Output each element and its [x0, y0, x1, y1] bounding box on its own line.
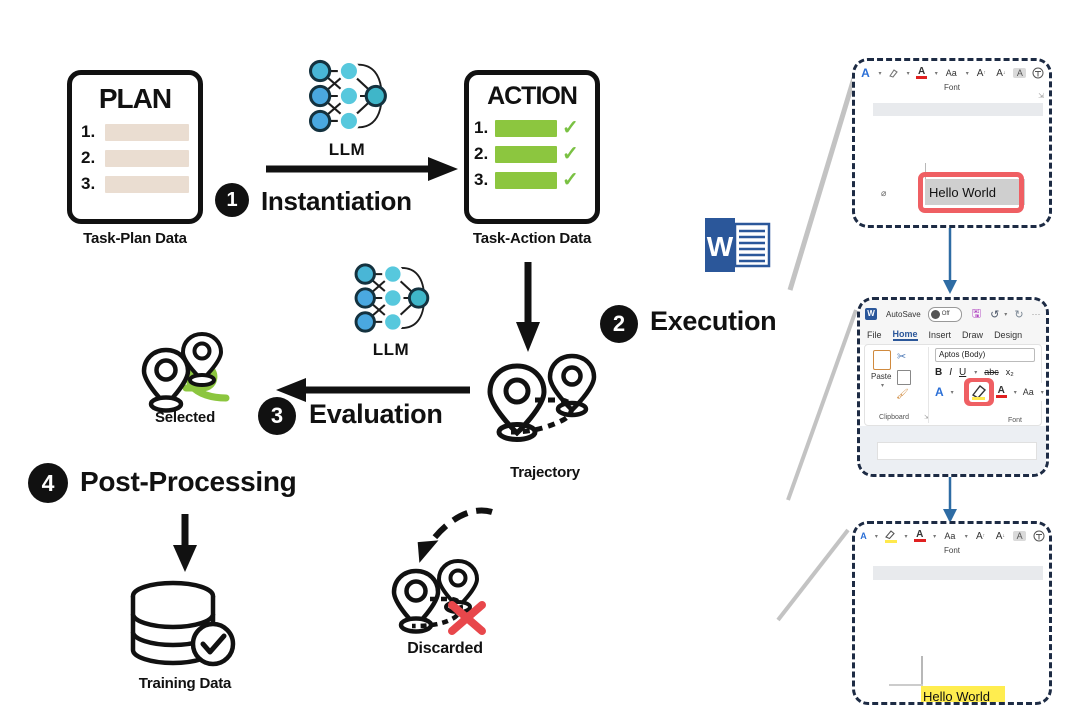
microsoft-word-icon: W — [703, 212, 773, 278]
plan-row-number: 3. — [81, 174, 105, 194]
font-group[interactable]: Aptos (Body) B I U ▾ abc x₂ A ▾ ▾ A — [933, 347, 1039, 423]
action-row-bar — [495, 120, 557, 137]
autosave-label: AutoSave — [886, 310, 921, 319]
action-row: 1. ✓ — [474, 118, 590, 138]
font-format-row[interactable]: B I U ▾ abc x₂ — [935, 365, 1014, 379]
clear-formatting-icon[interactable]: A — [1013, 531, 1026, 541]
change-case-icon[interactable]: Aa — [1023, 387, 1034, 397]
selected-caption: Selected — [115, 409, 255, 426]
paste-label[interactable]: Paste — [871, 372, 891, 381]
ribbon-body[interactable]: ✂ Paste ▾ 🖌 Clipboard ⇲ Aptos (Body) B I… — [864, 344, 1042, 426]
cut-icon[interactable]: ✂ — [897, 350, 906, 363]
plan-row: 2. — [81, 148, 189, 168]
subscript-button[interactable]: x₂ — [1006, 367, 1014, 377]
phonetic-guide-icon[interactable] — [1032, 530, 1045, 542]
discarded-caption: Discarded — [375, 640, 515, 658]
plan-card-title: PLAN — [99, 83, 171, 115]
chevron-down-icon[interactable]: ▾ — [966, 70, 969, 77]
chevron-down-icon[interactable]: ▾ — [907, 70, 910, 77]
plan-row: 3. — [81, 174, 189, 194]
llm-label: LLM — [373, 340, 409, 360]
chevron-down-icon[interactable]: ▾ — [875, 533, 878, 540]
action-row-bar — [495, 146, 557, 163]
step-badge-2: 2 — [600, 305, 638, 343]
llm-icon-instantiation: LLM — [287, 48, 407, 160]
step-badge-1: 1 — [215, 183, 249, 217]
task-plan-card: PLAN 1. 2. 3. — [67, 70, 203, 224]
neural-network-icon — [345, 252, 437, 344]
quick-access-toolbar[interactable]: W AutoSave Off 🖫 ↺ ▾ ↻ ⋯ — [860, 300, 1046, 325]
task-action-caption: Task-Action Data — [444, 230, 620, 247]
chevron-down-icon[interactable]: ▾ — [1014, 389, 1017, 396]
discarded-icon — [390, 555, 500, 640]
phonetic-guide-icon[interactable] — [1032, 67, 1045, 79]
grow-font-icon[interactable]: A↑ — [974, 68, 988, 79]
action-row-number: 3. — [474, 170, 495, 190]
chevron-down-icon[interactable]: ▾ — [935, 70, 938, 77]
font-group-toolbar[interactable]: A ▾ ▾ A ▾ Aa ▾ A↑ A↓ A — [855, 61, 1049, 83]
task-plan-caption: Task-Plan Data — [47, 230, 223, 247]
strikethrough-button[interactable]: abc — [984, 367, 999, 377]
plan-row-number: 1. — [81, 122, 105, 142]
plan-row: 1. — [81, 122, 189, 142]
font-color-icon[interactable]: A — [915, 67, 928, 79]
font-group-label: Font — [855, 83, 1049, 92]
font-group-toolbar[interactable]: A ▾ ▾ A ▾ Aa ▾ A↑ A↓ A — [855, 524, 1049, 546]
chevron-down-icon[interactable]: ▾ — [933, 533, 936, 540]
action-row-number: 1. — [474, 118, 495, 138]
undo-icon[interactable]: ↺ — [990, 308, 999, 321]
action-row-number: 2. — [474, 144, 495, 164]
tab-home[interactable]: Home — [893, 329, 918, 341]
change-case-icon[interactable]: Aa — [943, 68, 959, 78]
action-card-title: ACTION — [487, 82, 577, 111]
text-effects-icon[interactable]: A — [859, 531, 868, 541]
arrow-plan-to-action — [262, 155, 462, 187]
font-group-label: Font — [855, 546, 1049, 555]
plan-row-number: 2. — [81, 148, 105, 168]
arrow-screenshot-2-to-3 — [938, 477, 962, 525]
chevron-down-icon[interactable]: ▾ — [879, 70, 882, 77]
font-dialog-launcher-icon[interactable]: ⇲ — [1038, 92, 1044, 100]
overflow-icon[interactable]: ⋯ — [1032, 309, 1041, 320]
plan-row-bar — [105, 150, 189, 167]
document-area[interactable] — [860, 426, 1046, 474]
check-icon: ✓ — [562, 170, 579, 190]
document-canvas[interactable]: Hello World — [873, 580, 1043, 698]
italic-button[interactable]: I — [949, 367, 952, 378]
text-effects-icon[interactable]: A — [935, 385, 944, 399]
text-highlight-color-icon — [969, 382, 989, 402]
grow-font-icon[interactable]: A↑ — [974, 531, 988, 542]
arrow-to-training-data — [155, 512, 215, 577]
word-screenshot-2[interactable]: W AutoSave Off 🖫 ↺ ▾ ↻ ⋯ File Home Inser… — [857, 297, 1049, 477]
change-case-icon[interactable]: Aa — [942, 531, 958, 541]
step-label-evaluation: Evaluation — [309, 399, 443, 430]
diagram-canvas: PLAN 1. 2. 3. Task-Plan Data — [0, 0, 1080, 714]
margin-guide — [889, 684, 923, 686]
redo-icon[interactable]: ↻ — [1014, 308, 1023, 321]
font-color-icon[interactable]: A — [996, 386, 1007, 398]
check-icon: ✓ — [562, 118, 579, 138]
paste-icon[interactable] — [873, 350, 891, 370]
step-label-instantiation: Instantiation — [261, 186, 412, 217]
task-action-card: ACTION 1. ✓ 2. ✓ 3. ✓ — [464, 70, 600, 224]
paragraph-mark-icon: ⌀ — [881, 188, 886, 199]
step-badge-4: 4 — [28, 463, 68, 503]
document-text[interactable]: Hello World — [921, 686, 1005, 705]
neural-network-icon — [299, 48, 395, 144]
training-data-database-icon — [125, 578, 245, 670]
action-row-bar — [495, 172, 557, 189]
tab-design[interactable]: Design — [994, 330, 1022, 340]
clipboard-group[interactable]: ✂ Paste ▾ 🖌 Clipboard ⇲ — [869, 348, 927, 422]
red-highlight-box-selected-text — [918, 172, 1024, 213]
font-color-icon[interactable]: A — [913, 530, 926, 542]
selected-icon — [140, 320, 250, 415]
word-icon-letter: W — [707, 231, 734, 262]
font-group-label: Font — [999, 417, 1031, 424]
format-painter-icon[interactable]: 🖌 — [896, 389, 909, 400]
chevron-down-icon[interactable]: ▾ — [881, 382, 884, 389]
underline-button[interactable]: U — [959, 367, 966, 378]
plan-row-bar — [105, 124, 189, 141]
ribbon-tabs[interactable]: File Home Insert Draw Design — [860, 325, 1046, 345]
step-badge-3: 3 — [258, 397, 296, 435]
tab-draw[interactable]: Draw — [962, 330, 983, 340]
clear-formatting-icon[interactable]: A — [1013, 68, 1026, 78]
step-label-execution: Execution — [650, 306, 776, 337]
word-titlebar-icon: W — [865, 308, 877, 320]
chevron-down-icon[interactable]: ▾ — [1004, 311, 1007, 318]
clipboard-group-label: Clipboard — [869, 414, 919, 421]
chevron-down-icon[interactable]: ▾ — [1041, 389, 1044, 396]
bold-button[interactable]: B — [935, 367, 942, 378]
word-screenshot-3[interactable]: A ▾ ▾ A ▾ Aa ▾ A↑ A↓ A Font Hello World — [852, 521, 1052, 705]
red-highlight-box-highlighter — [964, 378, 994, 406]
document-ruler — [873, 103, 1043, 116]
tab-file[interactable]: File — [867, 330, 882, 340]
plan-row-bar — [105, 176, 189, 193]
chevron-down-icon[interactable]: ▾ — [965, 533, 968, 540]
training-data-caption: Training Data — [105, 675, 265, 692]
text-effects-icon[interactable]: A — [859, 66, 872, 80]
word-screenshot-1[interactable]: A ▾ ▾ A ▾ Aa ▾ A↑ A↓ A Font ⇲ ⌀ Hello Wo… — [852, 58, 1052, 228]
trajectory-icon — [487, 348, 607, 448]
trajectory-caption: Trajectory — [465, 464, 625, 481]
arrow-screenshot-1-to-2 — [938, 228, 962, 296]
group-divider — [928, 347, 929, 423]
save-icon[interactable]: 🖫 — [972, 305, 981, 324]
chevron-down-icon[interactable]: ▾ — [974, 369, 977, 376]
check-icon: ✓ — [562, 144, 579, 164]
chevron-down-icon[interactable]: ▾ — [904, 533, 907, 540]
font-name-box[interactable]: Aptos (Body) — [935, 348, 1035, 362]
text-cursor — [921, 656, 923, 686]
document-ruler — [873, 566, 1043, 580]
autosave-state: Off — [942, 311, 950, 317]
autosave-toggle[interactable]: Off — [928, 307, 962, 322]
shrink-font-icon[interactable]: A↓ — [994, 68, 1008, 79]
step-label-post-processing: Post-Processing — [80, 466, 296, 498]
document-canvas[interactable]: ⌀ Hello World — [873, 116, 1043, 221]
llm-icon-evaluation: LLM — [335, 252, 447, 360]
action-row: 3. ✓ — [474, 170, 590, 190]
copy-icon[interactable] — [897, 370, 911, 385]
text-highlight-color-icon[interactable] — [884, 529, 898, 543]
document-page-top — [877, 442, 1037, 460]
chevron-down-icon[interactable]: ▾ — [951, 389, 954, 396]
text-highlight-color-icon[interactable] — [887, 67, 900, 79]
tab-insert[interactable]: Insert — [929, 330, 952, 340]
shrink-font-icon[interactable]: A↓ — [993, 531, 1007, 542]
action-row: 2. ✓ — [474, 144, 590, 164]
